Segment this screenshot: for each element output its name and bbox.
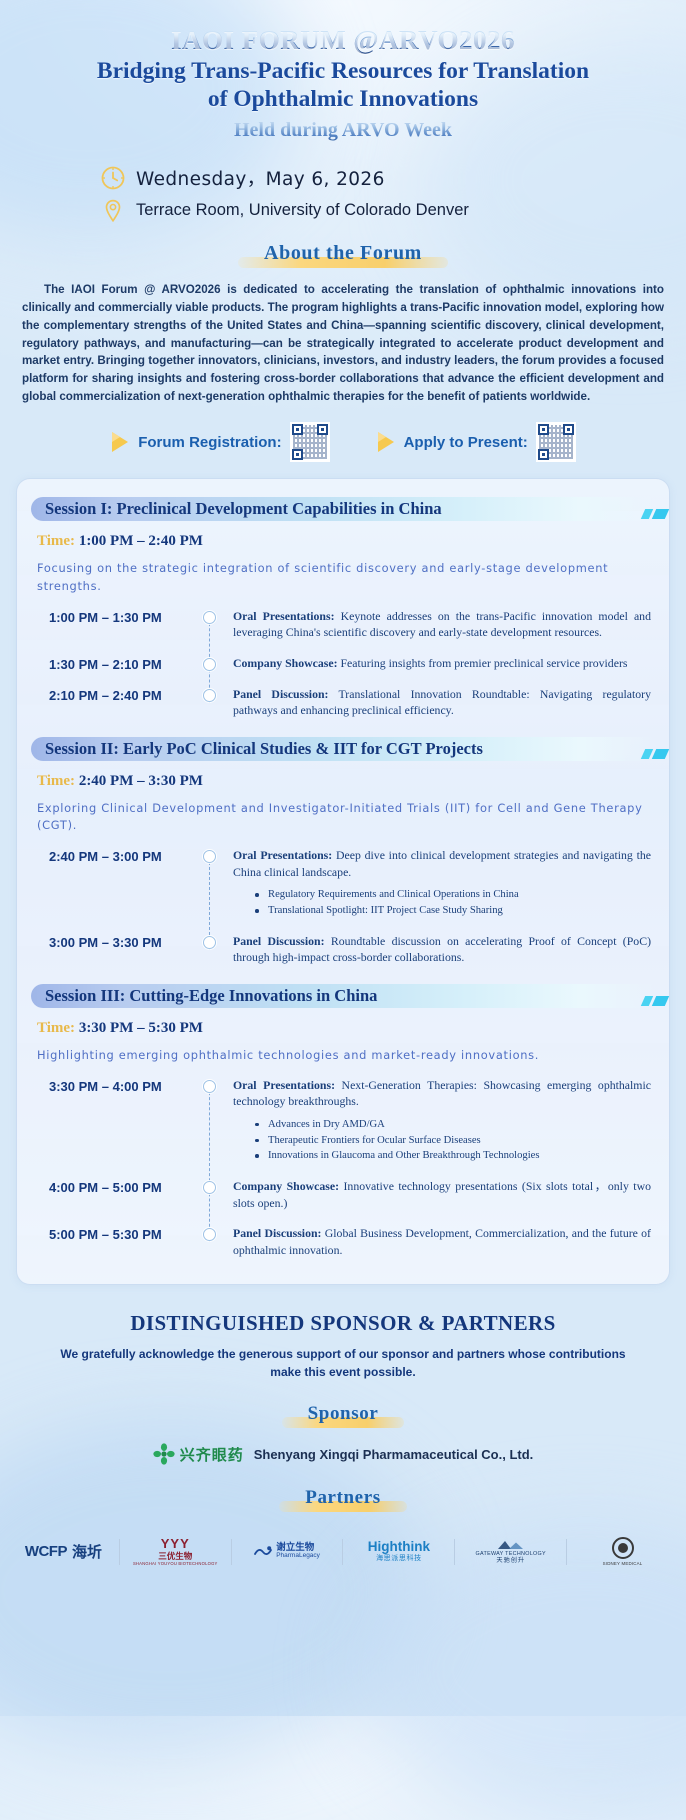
partner-logo-yyy: YYY 三优生物 SHANGHAI YOUYOU BIOTECHNOLOGY [126,1537,225,1566]
agenda-item-bullets: Advances in Dry AMD/GA Therapeutic Front… [255,1117,651,1165]
partners-logo-strip: WCFP 海圻 YYY 三优生物 SHANGHAI YOUYOU BIOTECH… [0,1529,686,1590]
forum-subline: Held during ARVO Week [20,118,666,143]
session-3-time-value: 3:30 PM – 5:30 PM [79,1020,203,1036]
partner-divider [454,1539,455,1565]
partner-highthink-name: Highthink [368,1540,430,1555]
session-2: Session II: Early PoC Clinical Studies &… [31,735,655,966]
agenda-item-body: Oral Presentations: Next-Generation Ther… [221,1077,655,1165]
sponsor-english-name: Shenyang Xingqi Pharmamaceutical Co., Lt… [254,1447,534,1462]
mountain-mark-icon [496,1539,526,1550]
agenda-item-lead: Panel Discussion: [233,934,325,948]
event-location-row: Terrace Room, University of Colorado Den… [100,198,686,224]
session-3-description: Highlighting emerging ophthalmic technol… [37,1047,647,1065]
event-location-text: Terrace Room, University of Colorado Den… [136,201,469,220]
forum-headline-line1: Bridging Trans-Pacific Resources for Tra… [20,58,666,86]
agenda-item-bullet: Translational Spotlight: IIT Project Cas… [255,903,651,919]
agenda-item: 2:40 PM – 3:00 PM Oral Presentations: De… [37,847,655,919]
apply-to-present-qr-code[interactable] [536,422,576,462]
sponsor-heading-wrap: Sponsor [18,1401,668,1429]
session-2-chevron-accent [643,749,667,759]
session-2-header: Session II: Early PoC Clinical Studies &… [31,735,655,763]
session-3: Session III: Cutting-Edge Innovations in… [31,982,655,1258]
timeline-dot-marker [197,847,221,863]
sponsors-title: DISTINGUISHED SPONSOR & PARTNERS [18,1311,668,1336]
forum-headline: Bridging Trans-Pacific Resources for Tra… [20,58,666,113]
agenda-item-body: Oral Presentations: Deep dive into clini… [221,847,655,919]
timeline-dot-marker [197,655,221,671]
session-1-time-label: Time: [37,533,75,549]
about-body-text: The IAOI Forum @ ARVO2026 is dedicated t… [22,283,664,404]
agenda-item-bullet: Innovations in Glaucoma and Other Breakt… [255,1148,651,1164]
session-2-items: 2:40 PM – 3:00 PM Oral Presentations: De… [37,847,655,966]
play-triangle-icon [110,431,130,453]
timeline-dot-marker [197,1077,221,1093]
agenda-item-body: Company Showcase: Innovative technology … [221,1178,655,1211]
agenda-item-lead: Oral Presentations: [233,609,335,623]
leaf-flower-icon [153,1443,175,1465]
timeline-dot-marker [197,686,221,702]
partner-wcfp-secondary: 海圻 [72,1541,102,1562]
session-2-title: Session II: Early PoC Clinical Studies &… [31,735,655,763]
timeline-dot-marker [197,933,221,949]
agenda-item-lead: Company Showcase: [233,656,338,670]
about-title: About the Forum [238,240,448,269]
session-2-time: Time: 2:40 PM – 3:30 PM [37,773,655,790]
xingqi-logo: 兴齐眼药 [153,1443,244,1465]
cta-row: Forum Registration: Apply to Present: [0,422,686,462]
partner-yyy-name: YYY [161,1537,190,1550]
forum-registration-qr-code[interactable] [290,422,330,462]
session-1-chevron-accent [643,509,667,519]
agenda-item-bullet: Therapeutic Frontiers for Ocular Surface… [255,1133,651,1149]
wave-mark-icon [254,1545,272,1559]
apply-to-present-label: Apply to Present: [404,434,528,451]
clock-icon [100,165,126,191]
partner-highthink-cn: 海思派思科技 [376,1555,422,1563]
about-section-header: About the Forum [0,240,686,269]
about-body: The IAOI Forum @ ARVO2026 is dedicated t… [22,281,664,407]
session-3-title: Session III: Cutting-Edge Innovations in… [31,982,655,1010]
session-3-items: 3:30 PM – 4:00 PM Oral Presentations: Ne… [37,1077,655,1259]
timeline-dot-marker [197,1178,221,1194]
forum-registration-cta[interactable]: Forum Registration: [110,422,329,462]
agenda-item: 3:00 PM – 3:30 PM Panel Discussion: Roun… [37,933,655,966]
agenda-item-time: 5:00 PM – 5:30 PM [37,1225,197,1242]
session-1: Session I: Preclinical Development Capab… [31,495,655,718]
partner-sidney-name: SIDNEY MEDICAL [603,1561,643,1566]
session-3-header: Session III: Cutting-Edge Innovations in… [31,982,655,1010]
agenda-item-time: 3:00 PM – 3:30 PM [37,933,197,950]
map-pin-icon [100,198,126,224]
partner-gateway-cn: 天驰创升 [496,1558,525,1565]
agenda-item-body: Panel Discussion: Roundtable discussion … [221,933,655,966]
agenda-item-bullet: Regulatory Requirements and Clinical Ope… [255,887,651,903]
sponsor-logo-row: 兴齐眼药 Shenyang Xingqi Pharmamaceutical Co… [18,1443,668,1465]
agenda-item-lead: Oral Presentations: [233,848,332,862]
agenda-item-lead: Panel Discussion: [233,687,328,701]
session-1-time-value: 1:00 PM – 2:40 PM [79,533,203,549]
session-1-title: Session I: Preclinical Development Capab… [31,495,655,523]
forum-headline-line2: of Ophthalmic Innovations [20,86,666,114]
partner-divider [566,1539,567,1565]
session-2-time-label: Time: [37,773,75,789]
partner-divider [119,1539,120,1565]
partners-heading: Partners [279,1485,407,1513]
session-1-time: Time: 1:00 PM – 2:40 PM [37,533,655,550]
agenda-item-text: Featuring insights from premier preclini… [338,656,628,670]
session-1-items: 1:00 PM – 1:30 PM Oral Presentations: Ke… [37,608,655,719]
agenda-item-time: 1:00 PM – 1:30 PM [37,608,197,625]
agenda-item-body: Panel Discussion: Translational Innovati… [221,686,655,719]
session-1-description: Focusing on the strategic integration of… [37,560,647,595]
session-3-time-label: Time: [37,1020,75,1036]
agenda-item: 1:00 PM – 1:30 PM Oral Presentations: Ke… [37,608,655,641]
sponsors-section: DISTINGUISHED SPONSOR & PARTNERS We grat… [0,1311,686,1513]
agenda-item: 1:30 PM – 2:10 PM Company Showcase: Feat… [37,655,655,672]
agenda-item-time: 3:30 PM – 4:00 PM [37,1077,197,1094]
play-triangle-icon [376,431,396,453]
partner-divider [231,1539,232,1565]
agenda-item: 4:00 PM – 5:00 PM Company Showcase: Inno… [37,1178,655,1211]
poster-page: IAOI FORUM @ARVO2026 Bridging Trans-Paci… [0,0,686,1590]
poster-header: IAOI FORUM @ARVO2026 Bridging Trans-Paci… [0,0,686,147]
agenda-item-lead: Company Showcase: [233,1179,339,1193]
agenda-item-body: Panel Discussion: Global Business Develo… [221,1225,655,1258]
partner-logo-pharmalegacy: 谢立生物 PharmaLegacy [238,1543,337,1560]
agenda-item: 3:30 PM – 4:00 PM Oral Presentations: Ne… [37,1077,655,1165]
partner-logo-wcfp: WCFP 海圻 [14,1541,113,1562]
partner-wcfp-name: WCFP [25,1543,67,1560]
sponsor-heading: Sponsor [282,1401,405,1429]
forum-registration-label: Forum Registration: [138,434,281,451]
session-2-time-value: 2:40 PM – 3:30 PM [79,773,203,789]
partner-logo-sidney-medical: SIDNEY MEDICAL [573,1537,672,1566]
partner-yyy-en: SHANGHAI YOUYOU BIOTECHNOLOGY [133,1562,218,1566]
sponsors-subtitle: We gratefully acknowledge the generous s… [54,1346,632,1381]
partners-heading-wrap: Partners [18,1485,668,1513]
partner-logo-gateway: GATEWAY TECHNOLOGY 天驰创升 [461,1539,560,1565]
agenda-item-time: 2:10 PM – 2:40 PM [37,686,197,703]
timeline-dot-marker [197,1225,221,1241]
agenda-card: Session I: Preclinical Development Capab… [16,478,670,1285]
session-3-time: Time: 3:30 PM – 5:30 PM [37,1020,655,1037]
agenda-item-lead: Oral Presentations: [233,1078,335,1092]
event-meta: Wednesday，May 6, 2026 Terrace Room, Univ… [0,165,686,224]
partner-pharmalegacy-en: PharmaLegacy [276,1553,320,1560]
timeline-dot-marker [197,608,221,624]
sponsor-chinese-name: 兴齐眼药 [180,1444,244,1465]
agenda-item: 5:00 PM – 5:30 PM Panel Discussion: Glob… [37,1225,655,1258]
agenda-item-body: Company Showcase: Featuring insights fro… [221,655,655,672]
agenda-item-time: 2:40 PM – 3:00 PM [37,847,197,864]
agenda-item-bullet: Advances in Dry AMD/GA [255,1117,651,1133]
agenda-item-time: 4:00 PM – 5:00 PM [37,1178,197,1195]
event-date-row: Wednesday，May 6, 2026 [100,165,686,191]
partner-logo-highthink: Highthink 海思派思科技 [349,1540,448,1563]
session-2-description: Exploring Clinical Development and Inves… [37,800,647,835]
forum-brand-title: IAOI FORUM @ARVO2026 [20,26,666,55]
agenda-item-body: Oral Presentations: Keynote addresses on… [221,608,655,641]
apply-to-present-cta[interactable]: Apply to Present: [376,422,576,462]
event-date-text: Wednesday，May 6, 2026 [136,165,385,191]
circle-mark-icon [612,1537,634,1559]
partner-divider [342,1539,343,1565]
agenda-item: 2:10 PM – 2:40 PM Panel Discussion: Tran… [37,686,655,719]
agenda-item-time: 1:30 PM – 2:10 PM [37,655,197,672]
agenda-item-lead: Panel Discussion: [233,1226,321,1240]
partner-yyy-cn: 三优生物 [158,1552,192,1561]
session-3-chevron-accent [643,996,667,1006]
agenda-item-bullets: Regulatory Requirements and Clinical Ope… [255,887,651,919]
session-1-header: Session I: Preclinical Development Capab… [31,495,655,523]
